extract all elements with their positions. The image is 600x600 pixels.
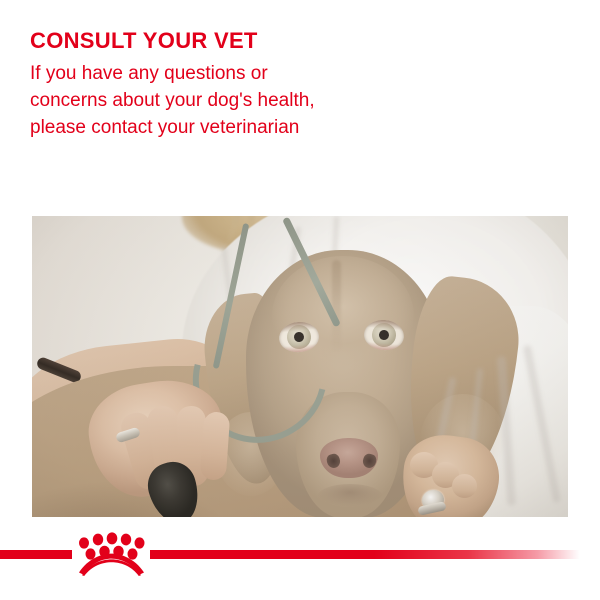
vet-finger bbox=[200, 411, 231, 481]
brand-bar-left bbox=[0, 550, 72, 559]
brand-footer bbox=[0, 548, 600, 560]
text-block: CONSULT YOUR VET If you have any questio… bbox=[30, 28, 430, 141]
page-title: CONSULT YOUR VET bbox=[30, 28, 430, 54]
dog-lip bbox=[318, 484, 382, 508]
photo-scene bbox=[32, 216, 568, 517]
dog-eye-right bbox=[363, 318, 405, 351]
body-line-1: If you have any questions or bbox=[30, 60, 430, 87]
page-root: CONSULT YOUR VET If you have any questio… bbox=[0, 0, 600, 600]
brand-bar-right bbox=[150, 550, 580, 559]
body-copy: If you have any questions or concerns ab… bbox=[30, 60, 430, 141]
dog-forehead-stripe bbox=[332, 260, 341, 352]
royal-canin-crown-logo bbox=[74, 530, 148, 576]
vet-dog-photo bbox=[32, 216, 568, 517]
dog-pupil-right bbox=[379, 330, 390, 341]
body-line-3: please contact your veterinarian bbox=[30, 114, 430, 141]
vet-knuckle bbox=[452, 474, 477, 498]
body-line-2: concerns about your dog's health, bbox=[30, 87, 430, 114]
